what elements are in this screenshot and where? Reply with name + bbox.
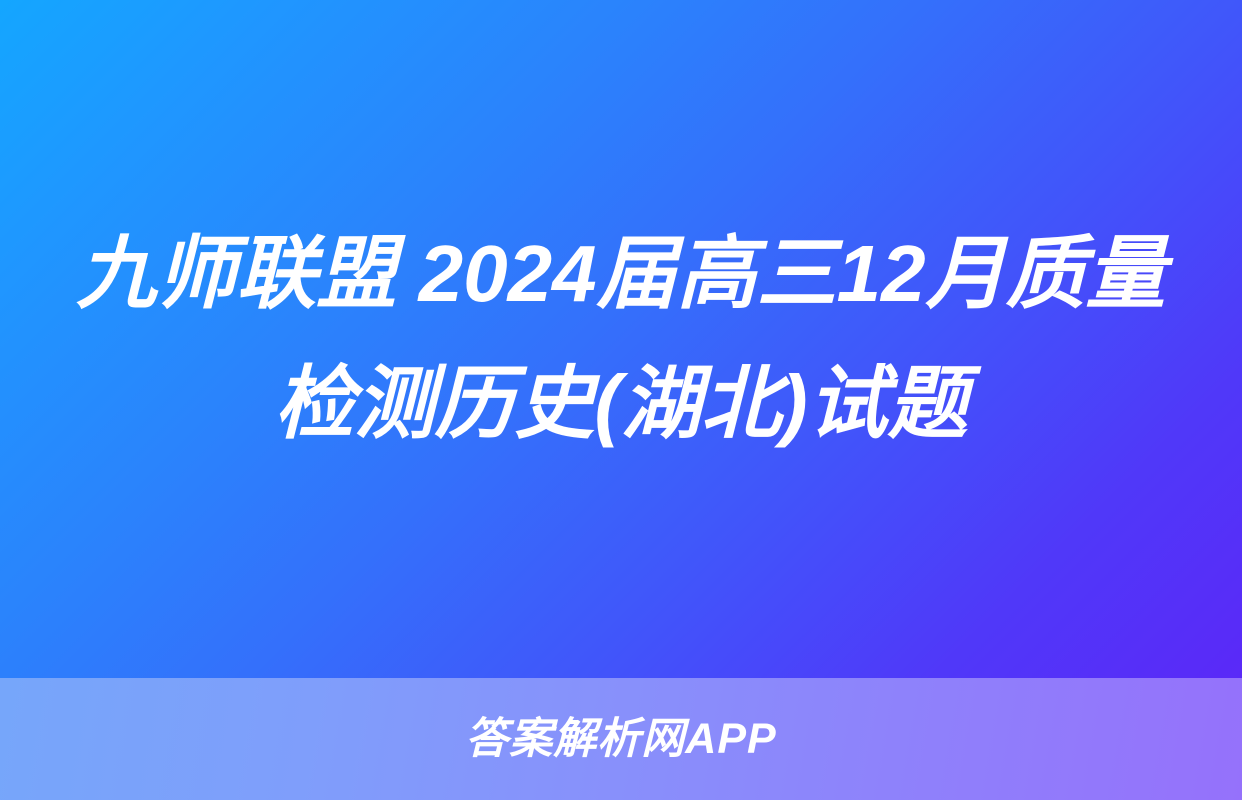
app-watermark-text: 答案解析网APP (465, 718, 776, 761)
app-watermark-band: 答案解析网APP (0, 678, 1242, 800)
hero-banner: 九师联盟 2024届高三12月质量检测历史(湖北)试题 (0, 0, 1242, 678)
exam-title: 九师联盟 2024届高三12月质量检测历史(湖北)试题 (70, 209, 1172, 468)
exam-cover-page: 九师联盟 2024届高三12月质量检测历史(湖北)试题 答案解析网APP (0, 0, 1242, 800)
